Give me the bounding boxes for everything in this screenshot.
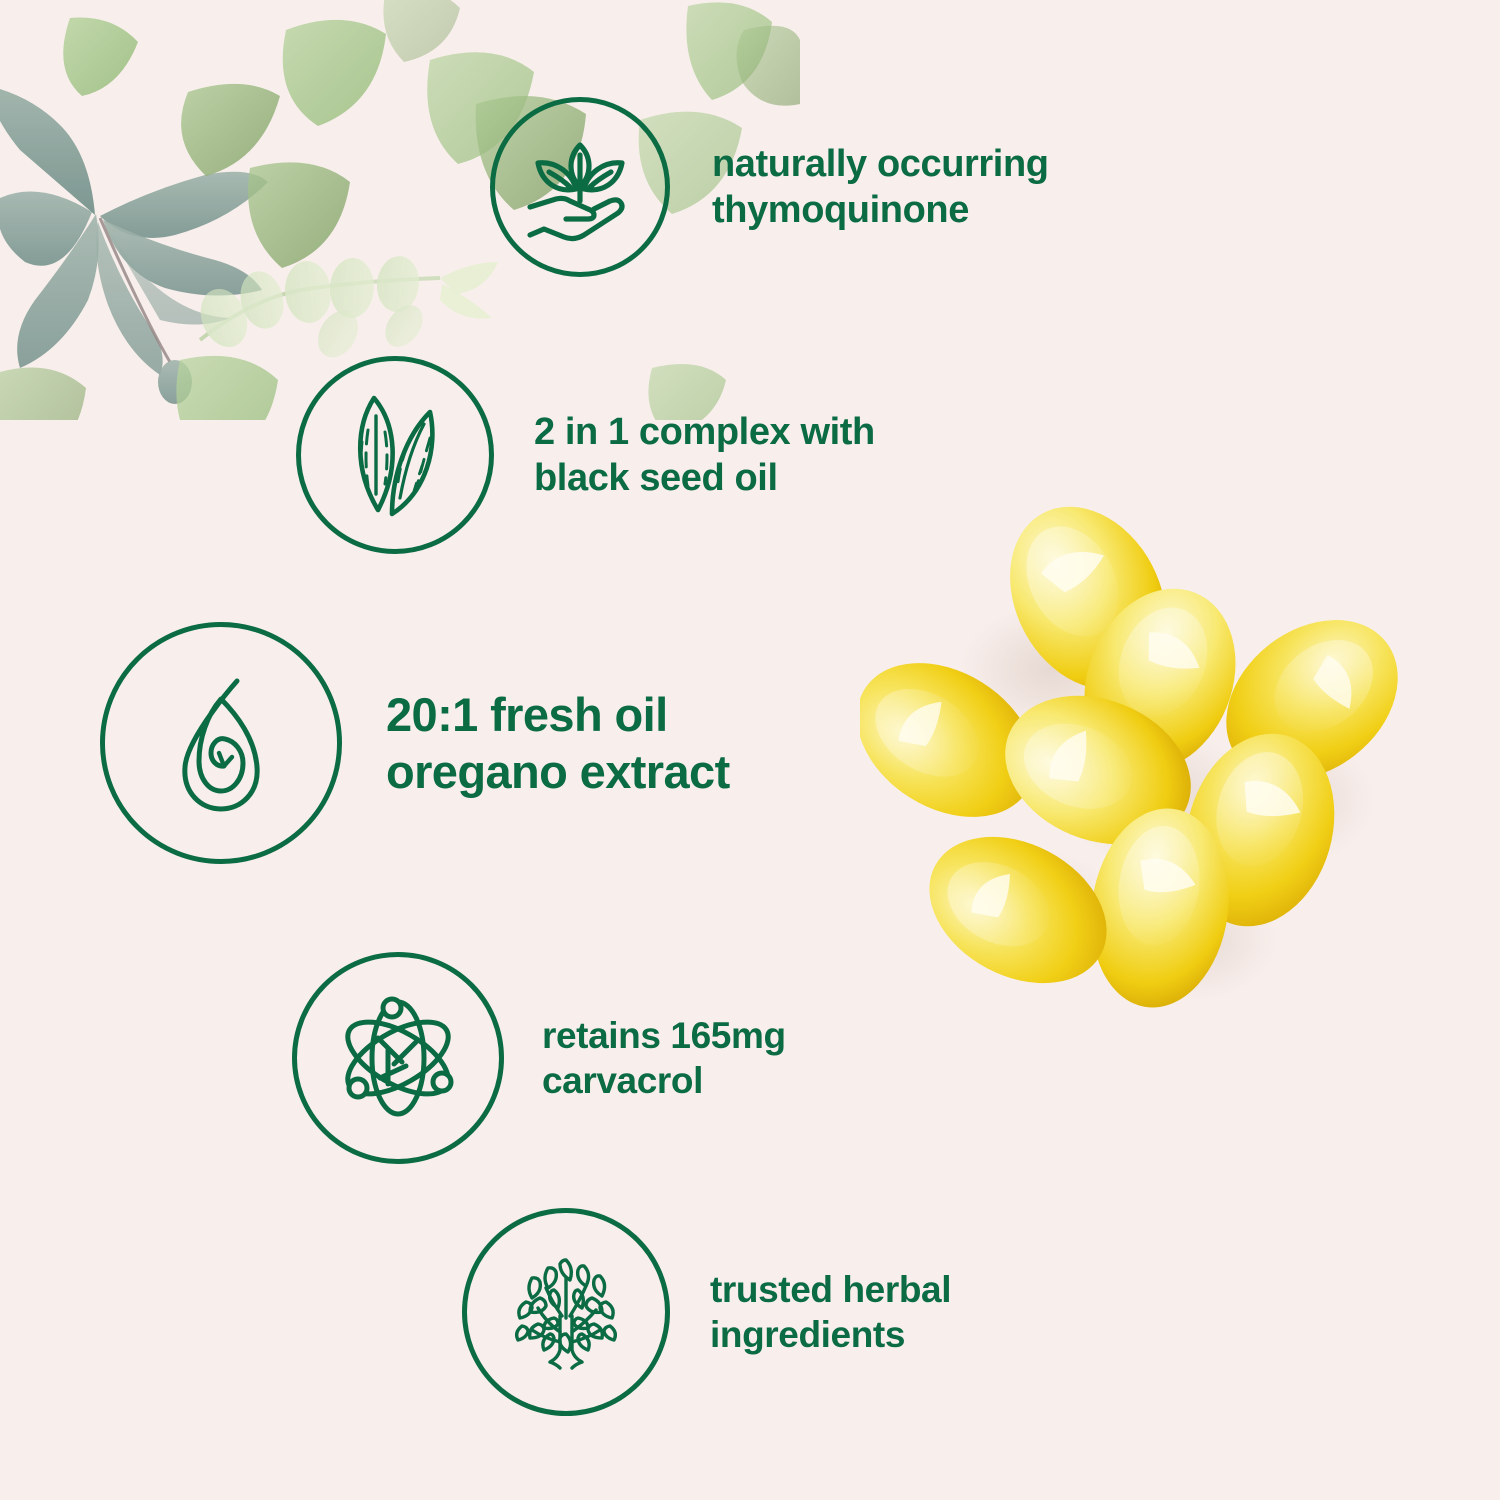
feature-icon-circle — [462, 1208, 670, 1416]
feature-label: retains 165mg carvacrol — [542, 1013, 786, 1103]
feature-icon-circle — [490, 97, 670, 277]
feature-item-oregano-extract-ratio[interactable]: 20:1 fresh oil oregano extract — [100, 622, 730, 864]
feature-item-carvacrol-content[interactable]: retains 165mg carvacrol — [292, 952, 786, 1164]
feature-item-naturally-occurring-thymoquinone[interactable]: naturally occurring thymoquinone — [490, 97, 1049, 277]
atom-molecule-icon — [332, 992, 464, 1124]
feature-item-two-in-one-complex[interactable]: 2 in 1 complex with black seed oil — [296, 356, 875, 554]
feature-label: 20:1 fresh oil oregano extract — [386, 686, 730, 801]
feature-label: naturally occurring thymoquinone — [712, 141, 1049, 234]
feature-item-trusted-herbal-ingredients[interactable]: trusted herbal ingredients — [462, 1208, 951, 1416]
tree-icon — [500, 1246, 632, 1378]
hand-holding-sprout-icon — [518, 125, 642, 249]
feature-icon-circle — [296, 356, 494, 554]
black-seed-icon — [330, 390, 460, 520]
oil-droplet-spiral-icon — [145, 667, 297, 819]
feature-label: trusted herbal ingredients — [710, 1267, 951, 1357]
feature-label: 2 in 1 complex with black seed oil — [534, 409, 875, 502]
softgel-capsules-image — [860, 470, 1440, 1010]
feature-icon-circle — [292, 952, 504, 1164]
feature-icon-circle — [100, 622, 342, 864]
infographic-canvas: naturally occurring thymoquinone — [0, 0, 1500, 1500]
